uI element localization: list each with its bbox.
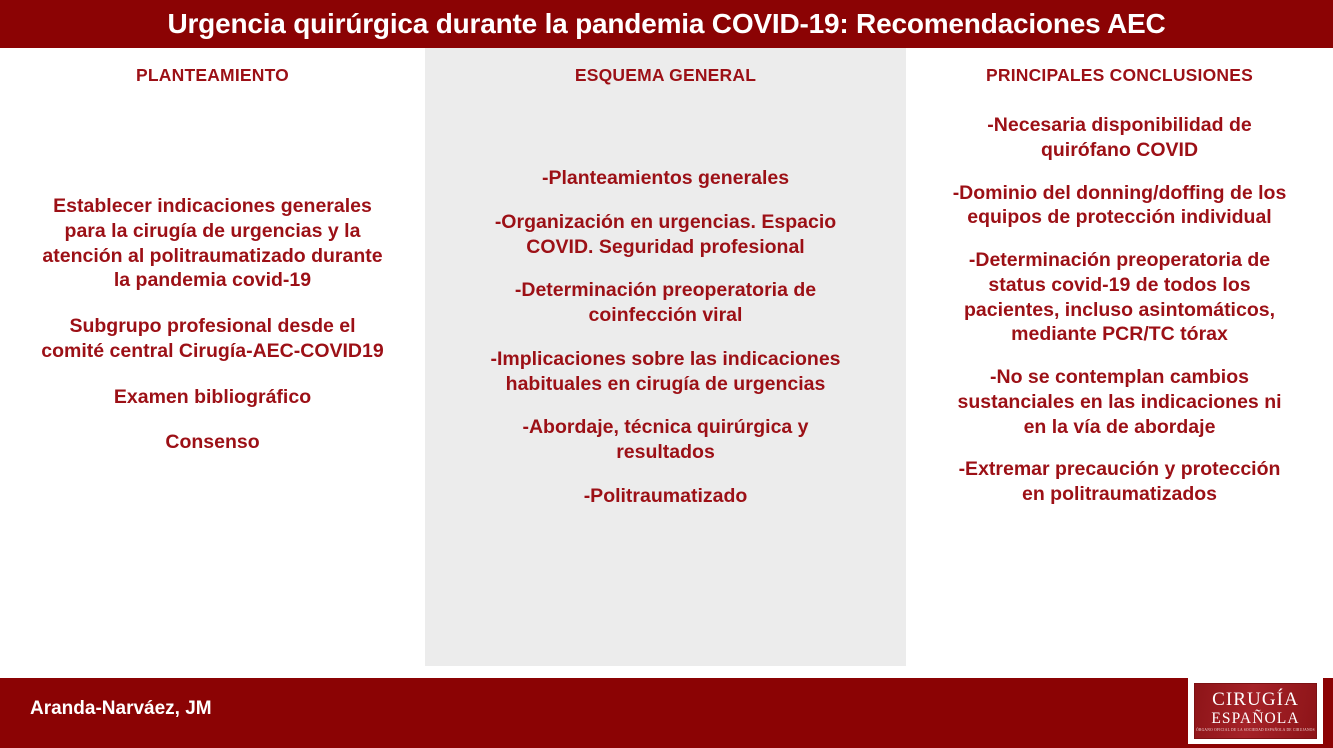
list-item: Consenso [40,430,385,455]
list-item: -Planteamientos generales [483,166,848,191]
list-item: -Implicaciones sobre las indicaciones ha… [483,347,848,397]
list-item: Subgrupo profesional desde el comité cen… [40,314,385,364]
column-principales-conclusiones: PRINCIPALES CONCLUSIONES -Necesaria disp… [906,48,1333,666]
list-item: -Extremar precaución y protección en pol… [948,457,1291,507]
column-body-planteamiento: Establecer indicaciones generales para l… [40,194,385,455]
logo-title-line1: CIRUGÍA [1212,690,1299,709]
column-heading-principales-conclusiones: PRINCIPALES CONCLUSIONES [948,65,1291,86]
list-item: -Dominio del donning/doffing de los equi… [948,181,1291,231]
logo-title-line2: ESPAÑOLA [1211,710,1299,727]
column-heading-esquema-general: ESQUEMA GENERAL [483,65,848,86]
list-item: -Politraumatizado [483,484,848,509]
cirugia-espanola-logo: CIRUGÍA ESPAÑOLA ÓRGANO OFICIAL DE LA SO… [1188,678,1323,744]
list-item: -Necesaria disponibilidad de quirófano C… [948,113,1291,163]
column-planteamiento: PLANTEAMIENTO Establecer indicaciones ge… [0,48,425,666]
column-esquema-general: ESQUEMA GENERAL -Planteamientos generale… [425,48,906,666]
footer-author: Aranda-Narváez, JM [30,698,212,720]
slide-root: Urgencia quirúrgica durante la pandemia … [0,0,1333,748]
list-item: -Determinación preoperatoria de coinfecc… [483,278,848,328]
list-item: -Determinación preoperatoria de status c… [948,248,1291,347]
column-body-principales-conclusiones: -Necesaria disponibilidad de quirófano C… [948,113,1291,507]
page-title: Urgencia quirúrgica durante la pandemia … [167,8,1165,40]
list-item: -Organización en urgencias. Espacio COVI… [483,210,848,260]
logo-subtitle: ÓRGANO OFICIAL DE LA SOCIEDAD ESPAÑOLA D… [1196,729,1315,733]
list-item: -No se contemplan cambios sustanciales e… [948,365,1291,439]
logo-inner: CIRUGÍA ESPAÑOLA ÓRGANO OFICIAL DE LA SO… [1194,683,1317,739]
list-item: Examen bibliográfico [40,385,385,410]
list-item: Establecer indicaciones generales para l… [40,194,385,293]
columns-container: PLANTEAMIENTO Establecer indicaciones ge… [0,48,1333,666]
title-bar: Urgencia quirúrgica durante la pandemia … [0,0,1333,48]
column-heading-planteamiento: PLANTEAMIENTO [40,65,385,86]
column-body-esquema-general: -Planteamientos generales -Organización … [483,166,848,509]
list-item: -Abordaje, técnica quirúrgica y resultad… [483,415,848,465]
